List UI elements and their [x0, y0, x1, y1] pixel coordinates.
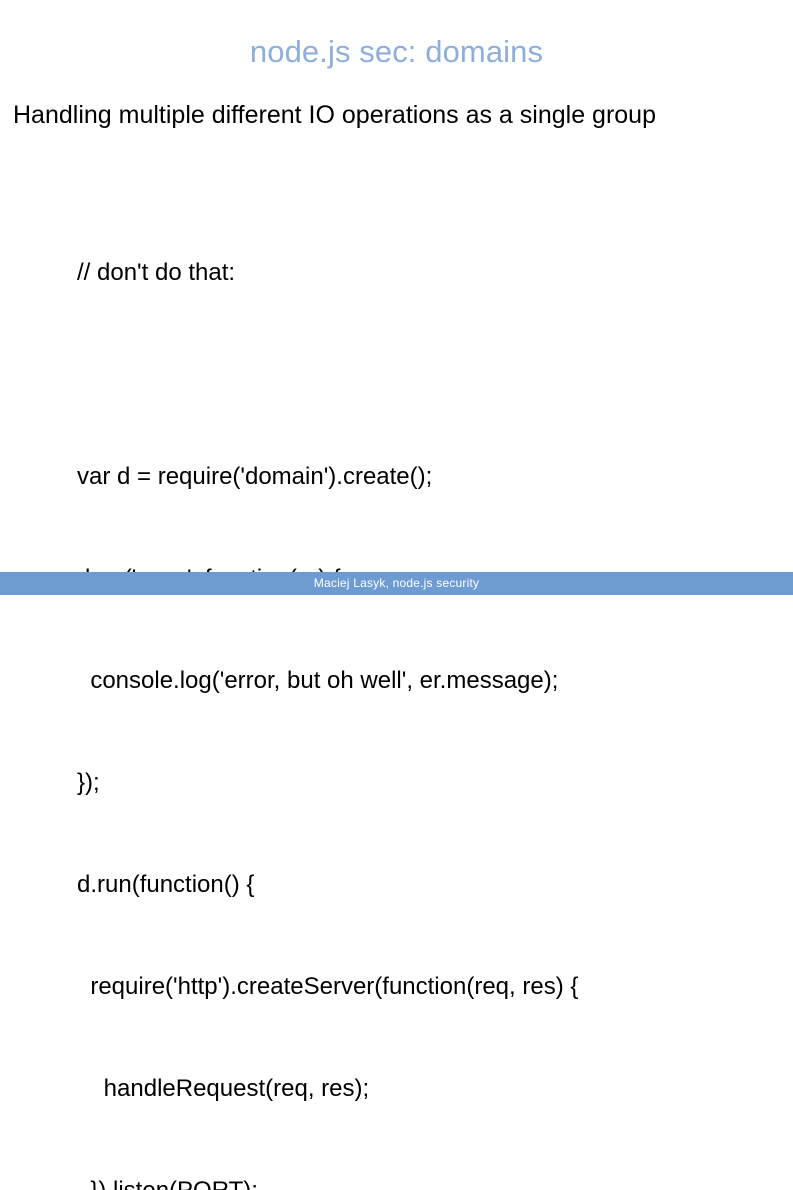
code-line: console.log('error, but oh well', er.mes… — [77, 664, 578, 698]
code-line: require('http').createServer(function(re… — [77, 970, 578, 1004]
code-line — [77, 358, 578, 392]
code-line: d.run(function() { — [77, 868, 578, 902]
code-line: var d = require('domain').create(); — [77, 460, 578, 494]
code-block: // don't do that: var d = require('domai… — [77, 188, 578, 1190]
code-line: handleRequest(req, res); — [77, 1072, 578, 1106]
slide-footer-text: Maciej Lasyk, node.js security — [0, 572, 793, 595]
presentation-slide: node.js sec: domains Handling multiple d… — [0, 0, 793, 595]
slide-title: node.js sec: domains — [0, 33, 793, 71]
slide-footer-bar: Maciej Lasyk, node.js security — [0, 572, 793, 595]
code-line: // don't do that: — [77, 256, 578, 290]
code-line: }); — [77, 766, 578, 800]
code-line: }).listen(PORT); — [77, 1174, 578, 1190]
slide-subtitle: Handling multiple different IO operation… — [13, 99, 656, 131]
